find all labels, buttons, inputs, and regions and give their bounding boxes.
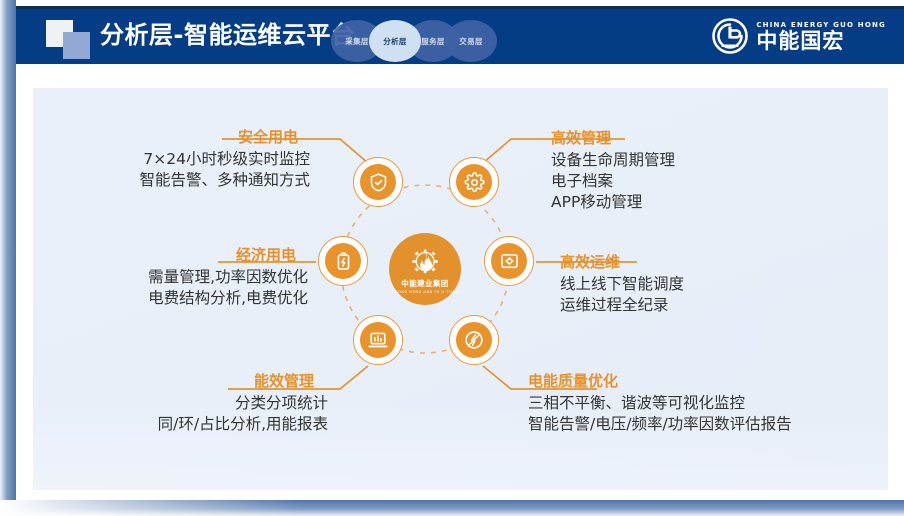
feature-title: 高效管理 [551,128,851,148]
feature-block-operations: 高效运维 线上线下智能调度 运维过程全纪录 [560,252,850,316]
header-bar: 分析层-智能运维云平台 采集层 服务层 交易层 分析层 [16,6,904,64]
node-power-quality[interactable] [449,315,499,365]
logo-chinese: 中能国宏 [756,30,886,52]
pill-label: 采集层 [345,36,368,47]
feature-line: 需量管理,功率因数优化 [24,267,308,288]
hub-english-name: ZHONG NENG JIAN YE JI TUAN [392,290,458,294]
feature-line: 分类分项统计 [60,393,328,414]
feature-line: 运维过程全纪录 [560,295,850,316]
feature-title: 电能质量优化 [528,371,858,391]
feature-line: 电子档案 [551,171,851,192]
gear-icon [456,164,492,200]
feature-line: APP移动管理 [551,192,851,213]
feature-block-economy: 经济用电 需量管理,功率因数优化 电费结构分析,电费优化 [24,245,308,309]
decor-square-blue [63,32,90,59]
bolt-circle-icon [456,322,492,358]
feature-block-management: 高效管理 设备生命周期管理 电子档案 APP移动管理 [551,128,851,213]
logo-wordmark: CHINA ENERGY GUO HONG 中能国宏 [756,21,886,52]
slide-root: 分析层-智能运维云平台 采集层 服务层 交易层 分析层 [0,0,904,516]
monitor-gear-icon [491,243,527,279]
feature-line: 设备生命周期管理 [551,150,851,171]
feature-line: 同/环/占比分析,用能报表 [60,414,328,435]
node-energy-efficiency[interactable] [353,315,403,365]
node-economic-electricity[interactable] [318,236,368,286]
pill-label: 分析层 [383,36,406,47]
pill-label: 交易层 [459,36,482,47]
pill-analysis-layer-active[interactable]: 分析层 [369,20,421,62]
frame-left-edge [0,0,16,516]
feature-line: 智能告警/电压/频率/功率因数评估报告 [528,414,858,435]
feature-title: 安全用电 [40,127,310,147]
feature-line: 电费结构分析,电费优化 [24,288,308,309]
feature-line: 三相不平衡、谐波等可视化监控 [528,393,858,414]
feature-block-power-quality: 电能质量优化 三相不平衡、谐波等可视化监控 智能告警/电压/频率/功率因数评估报… [528,371,858,435]
feature-title: 经济用电 [24,245,308,265]
header-top-rule [16,6,904,9]
node-efficient-operations[interactable] [484,236,534,286]
logo-english: CHINA ENERGY GUO HONG [756,21,886,29]
laptop-chart-icon [360,322,396,358]
pill-trade-layer[interactable]: 交易层 [445,20,497,62]
page-title: 分析层-智能运维云平台 [100,19,355,51]
feature-title: 高效运维 [560,252,850,272]
flame-gear-icon [408,247,442,277]
feature-title: 能效管理 [60,371,328,391]
company-logo: CHINA ENERGY GUO HONG 中能国宏 [711,17,886,55]
shield-check-icon [360,164,396,200]
center-hub-logo: 中能建业集团 ZHONG NENG JIAN YE JI TUAN [389,233,461,305]
node-safe-electricity[interactable] [353,157,403,207]
battery-bolt-icon [325,243,361,279]
pill-label: 服务层 [421,36,444,47]
feature-block-safe: 安全用电 7×24小时秒级实时监控 智能告警、多种通知方式 [40,127,310,191]
frame-bottom-fade [0,500,300,516]
hub-chinese-name: 中能建业集团 [401,278,448,289]
power-button-logo-icon [711,17,749,55]
node-efficient-management[interactable] [449,157,499,207]
feature-block-efficiency: 能效管理 分类分项统计 同/环/占比分析,用能报表 [60,371,328,435]
feature-line: 线上线下智能调度 [560,274,850,295]
feature-line: 智能告警、多种通知方式 [40,170,310,191]
feature-line: 7×24小时秒级实时监控 [40,149,310,170]
